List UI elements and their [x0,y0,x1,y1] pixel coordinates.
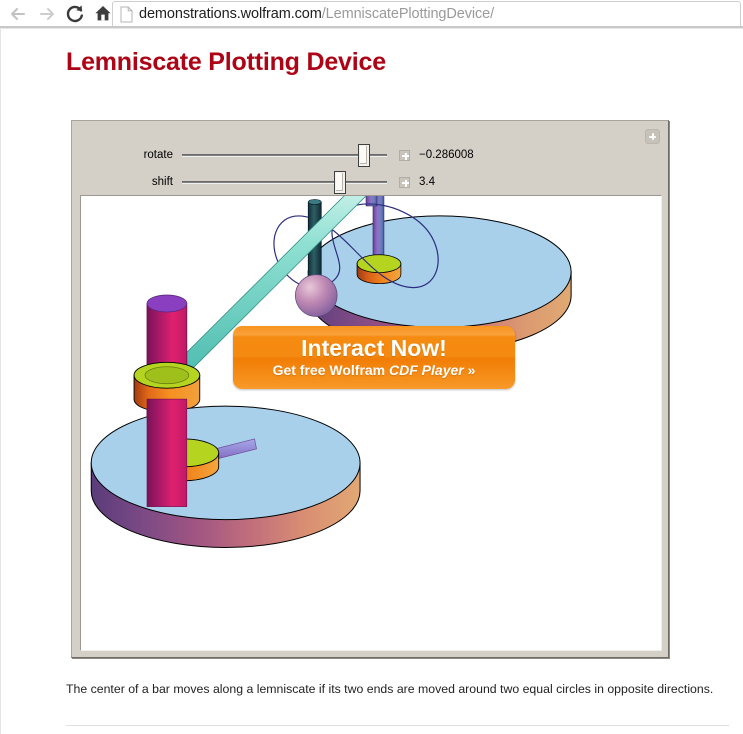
url-path: /LemniscatePlottingDevice/ [322,6,494,22]
bar-midpoint-sphere [295,275,337,317]
url-domain: demonstrations.wolfram.com [139,6,322,22]
slider-label-rotate: rotate [72,149,182,161]
slider-row-rotate: rotate −0.286008 [72,145,668,165]
interact-now-subtitle-prefix: Get free Wolfram [273,362,389,378]
interact-now-cdf-player: CDF Player [389,362,464,378]
lower-disc [91,406,360,547]
slider-track-shift [182,181,387,184]
interact-now-button[interactable]: Interact Now! Get free Wolfram CDF Playe… [233,326,515,389]
page-title: Lemniscate Plotting Device [66,48,386,77]
demonstration-caption: The center of a bar moves along a lemnis… [66,681,726,697]
navigation-buttons [0,2,116,26]
browser-chrome: demonstrations.wolfram.com/LemniscatePlo… [0,0,743,27]
forward-button[interactable] [34,2,60,26]
lemniscate-device-graphic [81,196,661,650]
interact-now-title: Interact Now! [233,335,515,361]
home-icon [92,3,114,24]
document-icon [120,6,133,23]
slider-animate-button-shift[interactable] [399,177,410,188]
content-divider [66,725,729,726]
slider-rotate[interactable] [182,146,387,164]
slider-row-shift: shift 3.4 [72,172,668,192]
slider-thumb-rotate[interactable] [358,144,370,167]
slider-shift[interactable] [182,173,387,191]
forward-arrow-icon [36,4,58,24]
demonstration-panel: rotate −0.286008 shift 3.4 [71,120,669,658]
reload-icon [64,3,86,24]
slider-thumb-shift[interactable] [334,171,346,194]
reload-button[interactable] [62,2,88,26]
interact-now-subtitle: Get free Wolfram CDF Player » [233,361,515,379]
graphics-frame[interactable]: Interact Now! Get free Wolfram CDF Playe… [80,195,662,651]
address-bar[interactable]: demonstrations.wolfram.com/LemniscatePlo… [112,1,741,26]
slider-track-rotate [182,154,387,157]
back-button[interactable] [6,2,32,26]
slider-animate-button-rotate[interactable] [399,150,410,161]
controls-area: rotate −0.286008 shift 3.4 [72,121,668,195]
url-text: demonstrations.wolfram.com/LemniscatePlo… [139,6,494,22]
slider-value-rotate: −0.286008 [419,149,474,161]
interact-now-subtitle-suffix: » [464,362,476,378]
page-content: Lemniscate Plotting Device rotate −0.286… [0,29,743,734]
slider-label-shift: shift [72,176,182,188]
back-arrow-icon [8,4,30,24]
slider-value-shift: 3.4 [419,176,435,188]
cylinder-lower-segment [147,399,187,507]
